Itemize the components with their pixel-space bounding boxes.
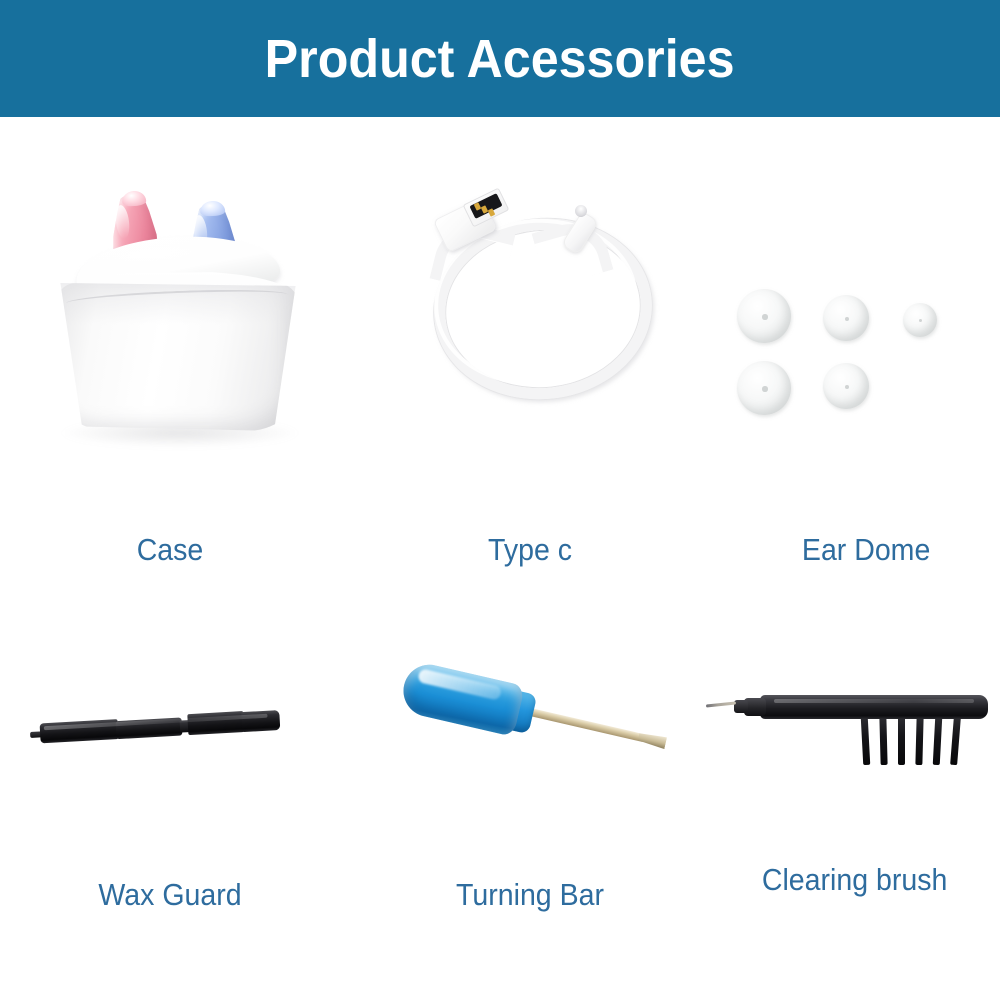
brush-bristle [861, 717, 871, 765]
ear-dome [823, 363, 869, 409]
product-cell-case[interactable]: Case [10, 177, 330, 617]
brush-wire-pick [706, 701, 736, 707]
ear-dome [903, 303, 937, 337]
screwdriver-shaft [528, 708, 645, 742]
brush-bristle [950, 717, 961, 765]
product-label-eardome: Ear Dome [703, 532, 1000, 568]
ear-dome [737, 361, 791, 415]
brush-ferrule [734, 700, 748, 713]
waxguard-illustration [10, 587, 330, 927]
wax-guard-body [29, 706, 280, 750]
brush-bristle [933, 717, 943, 765]
charging-case-icon [40, 187, 310, 517]
ear-dome [737, 289, 791, 343]
brush-bristle [898, 717, 905, 765]
screwdriver-body [378, 636, 688, 818]
product-cell-turningbar[interactable]: Turning Bar [370, 587, 690, 927]
screwdriver-icon [388, 667, 678, 787]
screwdriver-blade [637, 731, 667, 749]
usb-cable-icon [410, 185, 660, 515]
cleaning-brush-icon [704, 687, 994, 797]
brush-bristle [879, 717, 887, 765]
product-label-brush: Clearing brush [703, 862, 997, 898]
turningbar-illustration [370, 587, 690, 927]
brush-handle-highlight [774, 699, 974, 703]
ear-dome-icon [725, 277, 975, 457]
product-label-waxguard: Wax Guard [23, 877, 317, 913]
hearing-aid-left-cap [122, 190, 147, 207]
product-label-typec: Type c [383, 532, 677, 568]
product-cell-brush[interactable]: Clearing brush [690, 587, 1000, 927]
product-cell-waxguard[interactable]: Wax Guard [10, 587, 330, 927]
product-cell-typec[interactable]: Type c [370, 177, 690, 617]
screwdriver-handle [398, 660, 525, 737]
header-banner: Product Acessories [0, 0, 1000, 117]
hearing-aid-right-cap [200, 200, 226, 216]
wax-guard-icon [30, 687, 310, 777]
product-label-turningbar: Turning Bar [383, 877, 677, 913]
accessories-grid: Case Type c [0, 117, 1000, 1000]
product-label-case: Case [23, 532, 317, 568]
product-cell-eardome[interactable]: Ear Dome [690, 177, 1000, 617]
page-title: Product Acessories [265, 32, 735, 86]
brush-bristle [915, 717, 923, 765]
ear-dome [823, 295, 869, 341]
